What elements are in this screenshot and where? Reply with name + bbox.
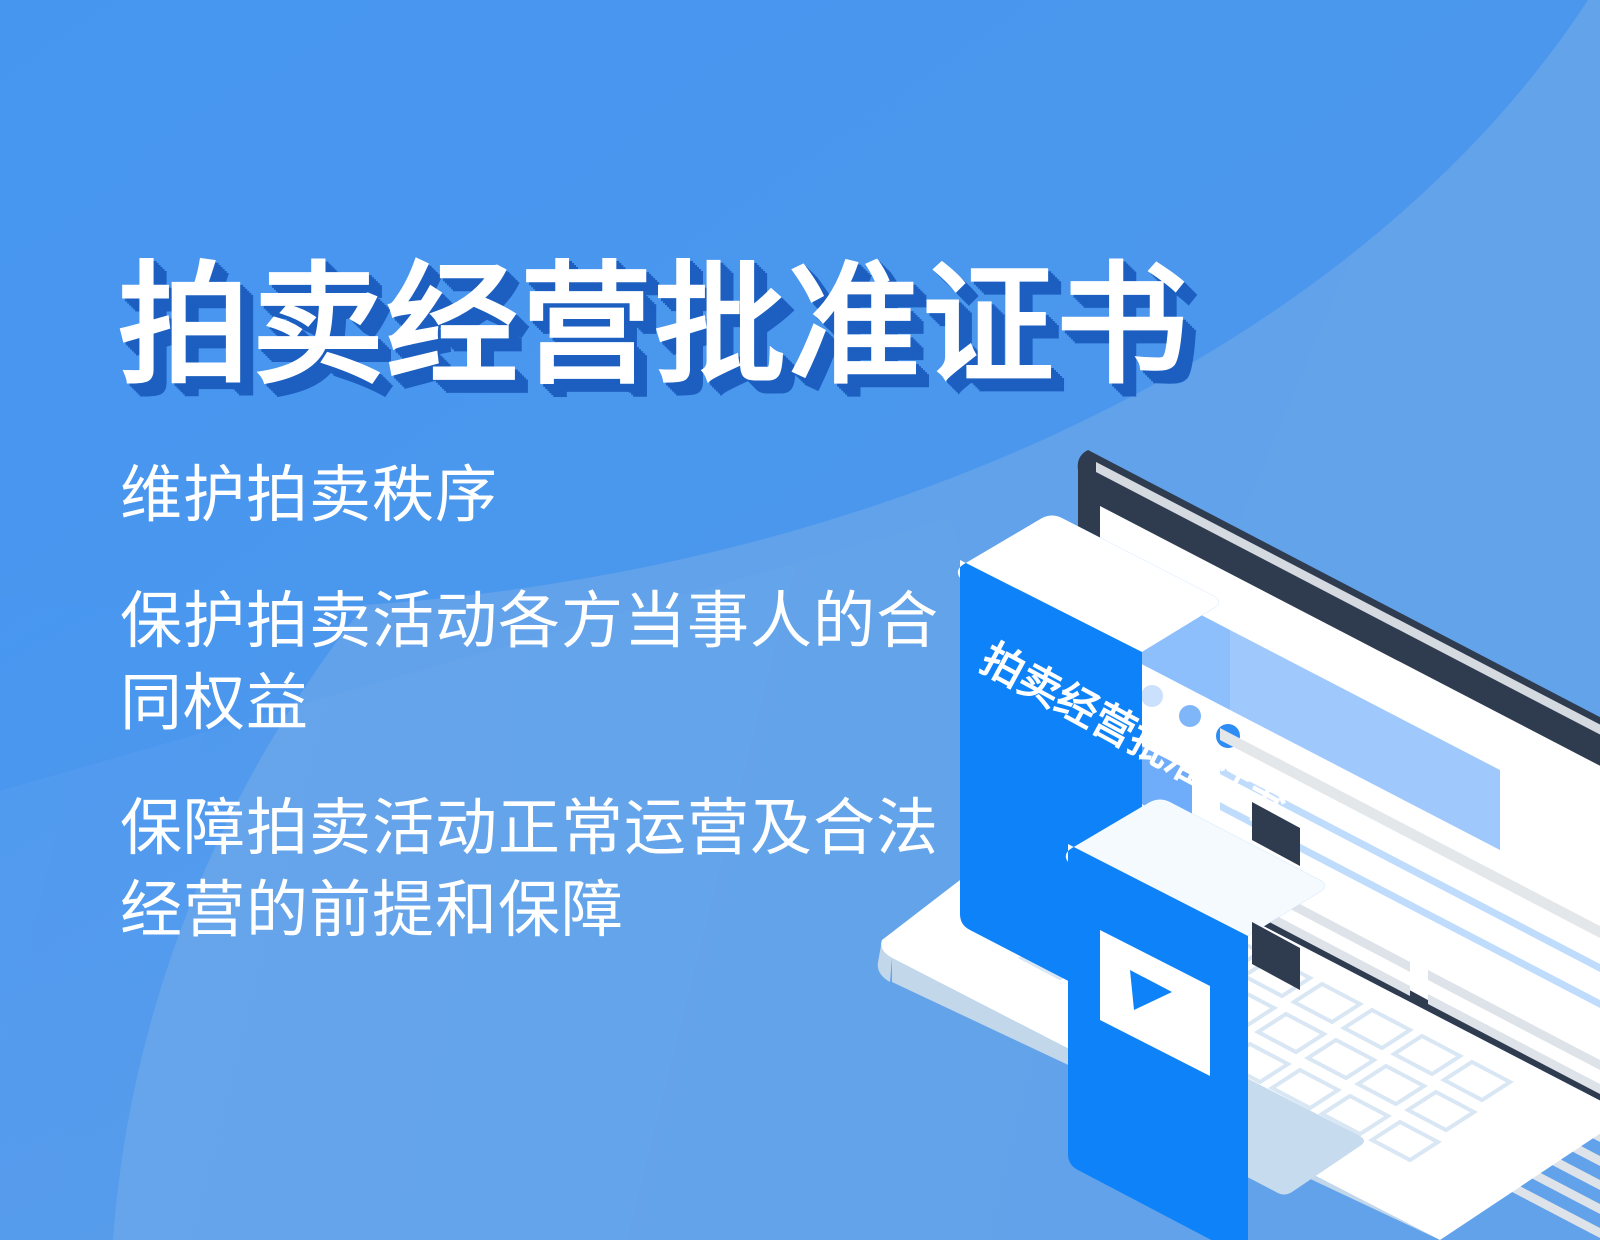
bullet-item-1: 维护拍卖秩序 xyxy=(120,455,940,537)
bullet-item-2: 保护拍卖活动各方当事人的合同权益 xyxy=(120,581,940,745)
bullet-list: 维护拍卖秩序 保护拍卖活动各方当事人的合同权益 保障拍卖活动正常运营及合法经营的… xyxy=(120,455,940,952)
promo-poster: 拍卖经营批准证书 维护拍卖秩序 保护拍卖活动各方当事人的合同权益 保障拍卖活动正… xyxy=(0,0,1600,1240)
page-title: 拍卖经营批准证书 xyxy=(118,260,1190,392)
bullet-item-3: 保障拍卖活动正常运营及合法经营的前提和保障 xyxy=(120,788,940,952)
